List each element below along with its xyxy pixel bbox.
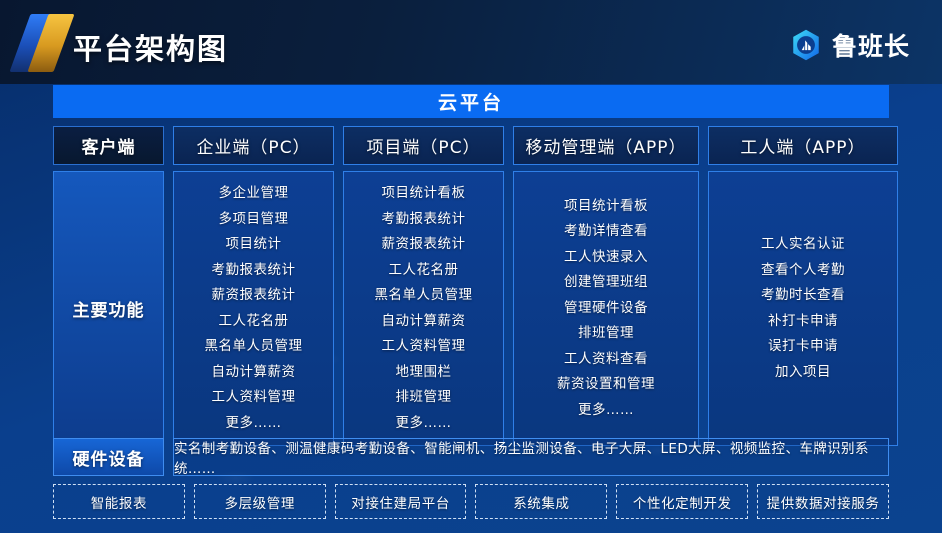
row-label-main-functions: 主要功能	[53, 171, 164, 446]
function-item: 工人资料管理	[382, 340, 466, 354]
capability-item[interactable]: 智能报表	[53, 484, 185, 519]
function-item: 误打卡申请	[768, 340, 838, 354]
function-item: 排班管理	[578, 327, 634, 341]
capability-item[interactable]: 系统集成	[475, 484, 607, 519]
function-list-enterprise-pc: 多企业管理多项目管理项目统计考勤报表统计薪资报表统计工人花名册黑名单人员管理自动…	[173, 171, 334, 446]
function-item: 黑名单人员管理	[205, 340, 303, 354]
function-item: 多项目管理	[219, 213, 289, 227]
function-item: 自动计算薪资	[382, 315, 466, 329]
function-item: 查看个人考勤	[761, 264, 845, 278]
function-item: 自动计算薪资	[212, 366, 296, 380]
function-item: 工人花名册	[219, 315, 289, 329]
cloud-platform-bar: 云平台	[53, 85, 889, 118]
function-item: 排班管理	[396, 391, 452, 405]
function-item: 工人快速录入	[564, 251, 648, 265]
function-item: 工人花名册	[389, 264, 459, 278]
hexagon-building-icon	[789, 28, 823, 62]
function-item: 项目统计	[226, 238, 282, 252]
function-item: 更多……	[578, 404, 634, 418]
function-item: 工人资料管理	[212, 391, 296, 405]
function-item: 多企业管理	[219, 187, 289, 201]
function-item: 考勤时长查看	[761, 289, 845, 303]
architecture-diagram-page: 平台架构图 鲁班长 云平台 客户端 企业端（PC） 项目端（PC） 移动管理端（…	[0, 0, 942, 533]
cloud-platform-label: 云平台	[438, 88, 504, 115]
grid-header-row: 客户端 企业端（PC） 项目端（PC） 移动管理端（APP） 工人端（APP）	[53, 126, 889, 165]
function-item: 工人资料查看	[564, 353, 648, 367]
function-item: 创建管理班组	[564, 276, 648, 290]
function-item: 工人实名认证	[761, 238, 845, 252]
column-header-project-pc[interactable]: 项目端（PC）	[343, 126, 504, 165]
function-item: 项目统计看板	[564, 200, 648, 214]
column-header-worker-app[interactable]: 工人端（APP）	[708, 126, 898, 165]
column-header-mobile-admin-app[interactable]: 移动管理端（APP）	[513, 126, 699, 165]
function-item: 考勤报表统计	[212, 264, 296, 278]
function-list-project-pc: 项目统计看板考勤报表统计薪资报表统计工人花名册黑名单人员管理自动计算薪资工人资料…	[343, 171, 504, 446]
function-item: 黑名单人员管理	[375, 289, 473, 303]
grid-body-row: 主要功能 多企业管理多项目管理项目统计考勤报表统计薪资报表统计工人花名册黑名单人…	[53, 171, 889, 446]
column-header-enterprise-pc[interactable]: 企业端（PC）	[173, 126, 334, 165]
function-item: 地理围栏	[396, 366, 452, 380]
hardware-device-list: 实名制考勤设备、测温健康码考勤设备、智能闸机、扬尘监测设备、电子大屏、LED大屏…	[173, 438, 889, 476]
function-item: 补打卡申请	[768, 315, 838, 329]
function-item: 考勤报表统计	[382, 213, 466, 227]
capability-item[interactable]: 对接住建局平台	[335, 484, 467, 519]
function-item: 更多……	[226, 417, 282, 431]
function-list-worker-app: 工人实名认证查看个人考勤考勤时长查看补打卡申请误打卡申请加入项目	[708, 171, 898, 446]
hardware-label: 硬件设备	[53, 438, 164, 476]
architecture-grid: 客户端 企业端（PC） 项目端（PC） 移动管理端（APP） 工人端（APP） …	[53, 126, 889, 446]
capability-row: 智能报表多层级管理对接住建局平台系统集成个性化定制开发提供数据对接服务	[53, 484, 889, 519]
function-item: 管理硬件设备	[564, 302, 648, 316]
brand-name: 鲁班长	[832, 27, 910, 63]
page-title: 平台架构图	[73, 26, 228, 68]
function-item: 薪资报表统计	[382, 238, 466, 252]
function-list-mobile-admin-app: 项目统计看板考勤详情查看工人快速录入创建管理班组管理硬件设备排班管理工人资料查看…	[513, 171, 699, 446]
function-item: 薪资设置和管理	[557, 378, 655, 392]
capability-item[interactable]: 个性化定制开发	[616, 484, 748, 519]
brand: 鲁班长	[789, 27, 910, 63]
function-item: 考勤详情查看	[564, 225, 648, 239]
function-item: 加入项目	[775, 366, 831, 380]
function-item: 薪资报表统计	[212, 289, 296, 303]
capability-item[interactable]: 多层级管理	[194, 484, 326, 519]
row-label-client: 客户端	[53, 126, 164, 165]
double-slash-logo-icon	[12, 14, 72, 72]
hardware-row: 硬件设备 实名制考勤设备、测温健康码考勤设备、智能闸机、扬尘监测设备、电子大屏、…	[53, 438, 889, 476]
capability-item[interactable]: 提供数据对接服务	[757, 484, 889, 519]
function-item: 项目统计看板	[382, 187, 466, 201]
function-item: 更多……	[396, 417, 452, 431]
